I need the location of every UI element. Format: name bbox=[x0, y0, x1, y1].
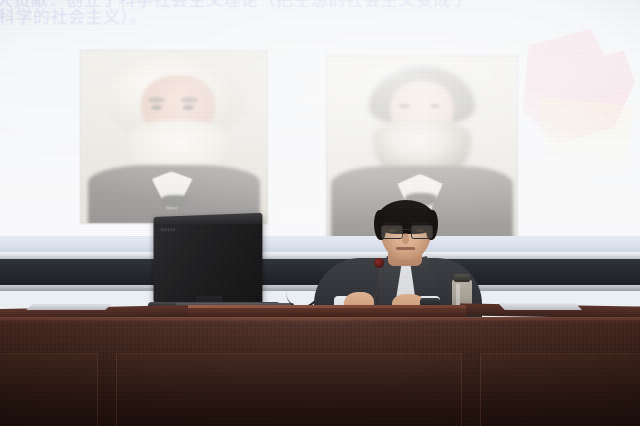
lenovo-monitor: lenovo bbox=[154, 213, 263, 307]
lenovo-logo: lenovo bbox=[161, 227, 176, 232]
wall-trim bbox=[0, 252, 640, 259]
lecture-photo-scene: 大贡献：创立了科学社会主义理论（把空想的社会主义变成了 科学的社会主义）。 bbox=[0, 0, 640, 426]
podium-shading bbox=[0, 317, 640, 426]
papers-left bbox=[26, 304, 112, 310]
speaker-mouth bbox=[396, 247, 415, 250]
glasses-bridge bbox=[401, 229, 411, 230]
speaker-figure bbox=[330, 200, 466, 318]
podium-desktop-highlight bbox=[188, 305, 466, 308]
microphone-icon bbox=[374, 258, 384, 268]
speaker-nose bbox=[402, 233, 409, 244]
glasses-lens-right bbox=[411, 225, 433, 239]
bottle-cap bbox=[454, 274, 470, 282]
slide-text-line-2: 科学的社会主义）。 bbox=[0, 10, 147, 27]
projection-screen: 大贡献：创立了科学社会主义理论（把空想的社会主义变成了 科学的社会主义）。 bbox=[0, 0, 640, 252]
portrait-karl-marx bbox=[80, 50, 268, 224]
papers-right bbox=[498, 303, 582, 310]
glasses-lens-left bbox=[381, 225, 403, 239]
flag-highlight bbox=[538, 96, 634, 174]
marx-projection-wash bbox=[81, 51, 267, 223]
